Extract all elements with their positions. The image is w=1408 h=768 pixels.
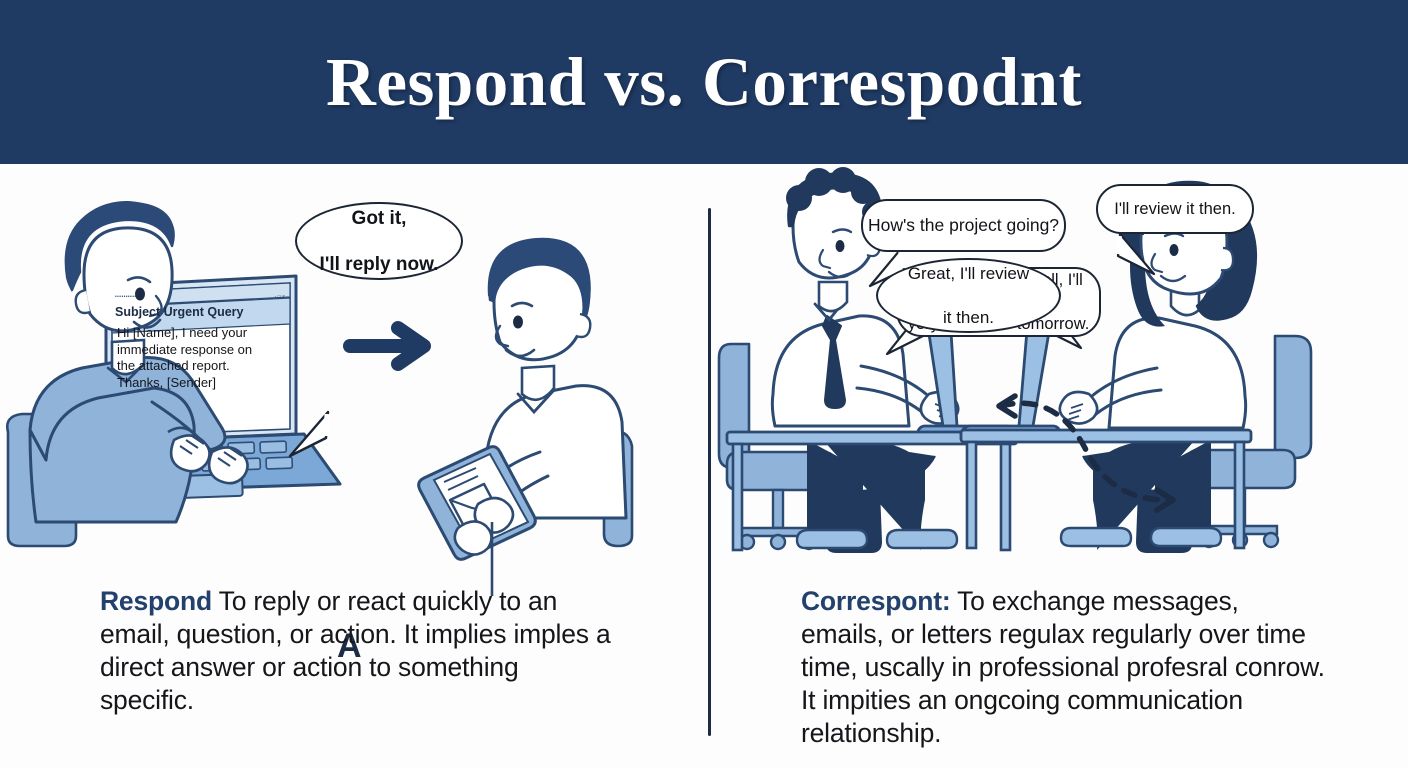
question-bubble-text: How's the project going? [868, 215, 1059, 236]
infographic-page: Respond vs. Correspodnt [0, 0, 1408, 768]
review-top-speech-bubble: I'll review it then. [1096, 184, 1254, 234]
email-subject: Subject Urgent Query [115, 305, 244, 319]
left-panel-respond: •••••••••• - □ × Subject Urgent Query Hi… [0, 164, 708, 768]
correspond-caption: Correspont: To exchange messages, emails… [801, 585, 1326, 750]
correspond-term: Correspont: [801, 586, 950, 616]
email-body: Hi [Name], I need your immediate respons… [117, 325, 287, 391]
right-panel-correspond: How's the project going? It's progressin… [711, 164, 1408, 768]
page-header: Respond vs. Correspodnt [0, 0, 1408, 164]
review-top-bubble-tail [1106, 232, 1162, 278]
email-body-line: Hi [Name], I need your [117, 325, 287, 342]
email-titlebar-text: •••••••••• [115, 294, 137, 300]
respond-term: Respond [100, 586, 212, 616]
question-speech-bubble: How's the project going? [861, 199, 1066, 252]
man-tablet-figure [419, 238, 632, 596]
email-window: •••••••••• - □ × Subject Urgent Query Hi… [112, 292, 290, 438]
email-body-line: the attached report. [117, 358, 287, 375]
correspond-illustration: How's the project going? It's progressin… [711, 164, 1408, 582]
respond-illustration: •••••••••• - □ × Subject Urgent Query Hi… [0, 164, 708, 582]
review-top-bubble-text: I'll review it then. [1114, 200, 1235, 219]
review-speech-bubble: Great, I'll review it then. [876, 258, 1061, 333]
respond-caption: Respond To reply or react quickly to an … [100, 585, 612, 717]
respond-bubble-tail [280, 404, 350, 464]
right-arrow-icon [350, 328, 424, 364]
page-title: Respond vs. Correspodnt [326, 43, 1082, 122]
window-controls[interactable]: - □ × [275, 294, 285, 300]
email-body-line: immediate response on [117, 342, 287, 359]
review-bubble-line2: it then. [908, 307, 1029, 329]
respond-speech-bubble: Got it, I'll reply now. [295, 202, 463, 280]
respond-bubble-line1: Got it, [320, 207, 439, 230]
respond-bubble-line2: I'll reply now. [320, 253, 439, 276]
review-bubble-line1: Great, I'll review [908, 263, 1029, 285]
email-body-line: Thanks, [Sender] [117, 375, 287, 392]
